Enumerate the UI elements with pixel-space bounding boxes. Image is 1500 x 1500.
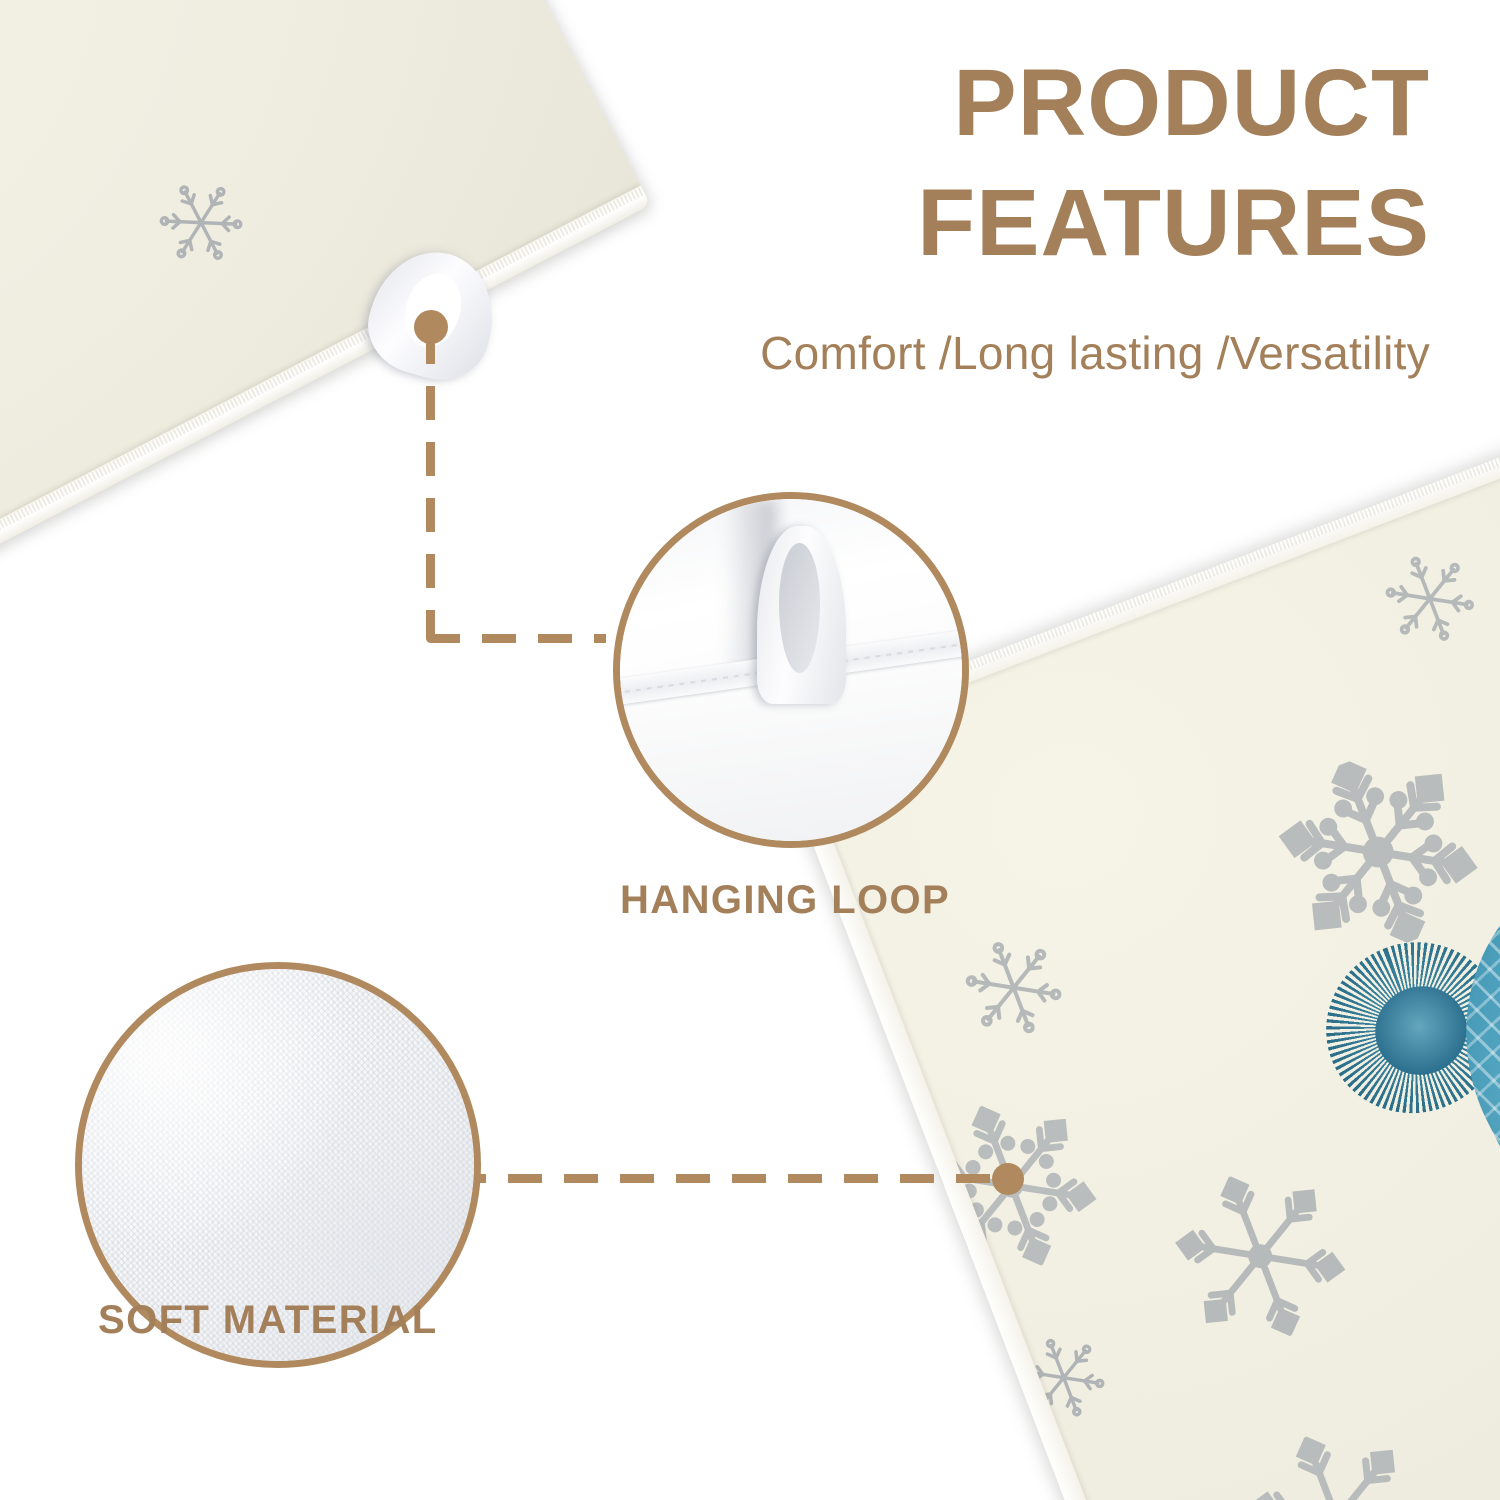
feature-label-hanging-loop: HANGING LOOP [620,878,950,923]
detail-circle-hanging-loop[interactable] [613,492,969,848]
connector-line-loop-horizontal [426,634,621,643]
page-title-line-2: FEATURES [917,172,1430,275]
mat-corner-top-left [0,0,651,671]
connector-line-soft [452,1174,1012,1183]
hanging-loop-closeup-photo [620,499,962,841]
mat-fabric-surface [0,0,651,671]
feature-label-soft-material: SOFT MATERIAL [98,1298,438,1343]
connector-dot-soft [992,1163,1024,1195]
product-features-infographic: PRODUCT FEATURES Comfort /Long lasting /… [0,0,1500,1500]
connector-line-loop-vertical [426,330,435,642]
page-title-line-1: PRODUCT [953,52,1430,155]
page-subtitle: Comfort /Long lasting /Versatility [760,326,1430,380]
